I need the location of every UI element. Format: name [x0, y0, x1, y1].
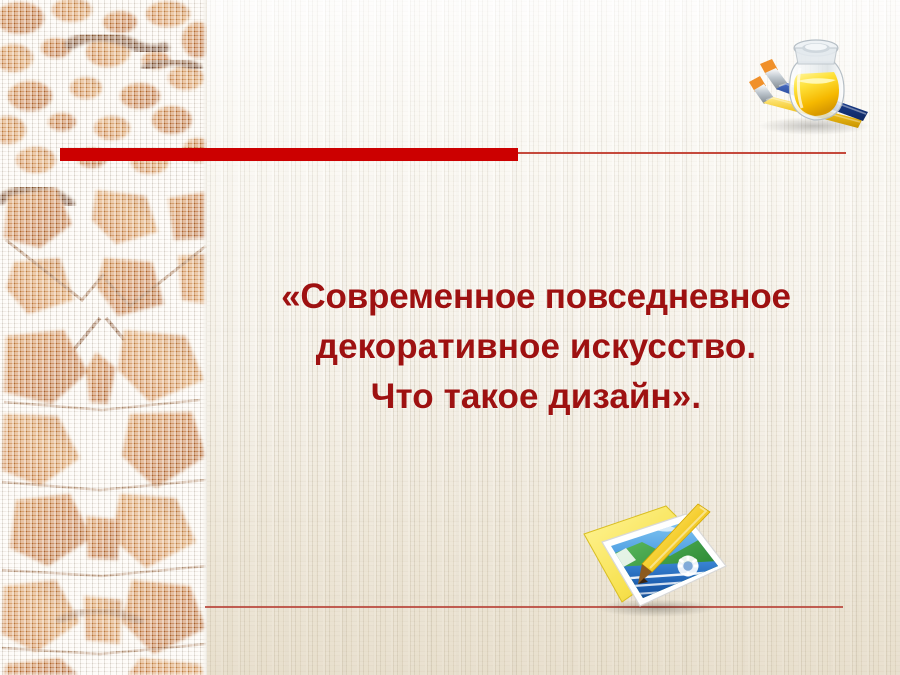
slide-title-line-1: «Современное повседневное — [232, 272, 840, 322]
presentation-slide: «Современное повседневное декоративное и… — [0, 0, 900, 675]
gear-logo-icon — [678, 556, 699, 577]
giraffe-pattern-border — [0, 0, 207, 675]
paint-jar — [790, 40, 845, 120]
top-accent-bar — [60, 148, 518, 161]
slide-title: «Современное повседневное декоративное и… — [232, 272, 840, 422]
bottom-thin-rule — [205, 606, 843, 608]
paint-jar-brushes-icon — [736, 28, 876, 136]
slide-title-line-3: Что такое дизайн». — [232, 372, 840, 422]
giraffe-pattern-art — [0, 0, 207, 675]
photo-editor-icon — [578, 498, 730, 620]
slide-title-line-2: декоративное искусство. — [232, 322, 840, 372]
